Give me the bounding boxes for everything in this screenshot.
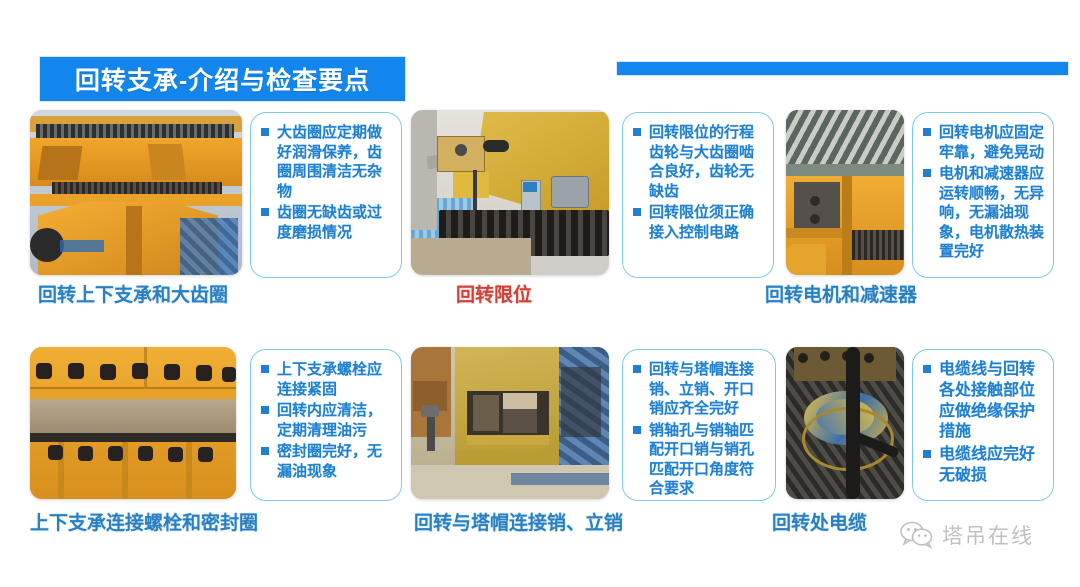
list-item: 回转限位的行程齿轮与大齿圈啮合良好，齿轮无缺齿 [632,123,765,201]
photo-slewing-motor-reducer [786,110,904,275]
watermark-text: 塔吊在线 [942,520,1034,550]
bullet-text: 大齿圈应定期做好润滑保养，齿圈周围清洁无杂物 [277,124,382,200]
photo-slewing-tower-cap-pins [411,347,609,499]
caption-slewing-cable: 回转处电缆 [772,508,867,535]
list-item: 回转与塔帽连接销、立销、开口销应齐全完好 [632,360,767,419]
bullet-square-icon [261,128,269,136]
bullet-text: 电机和减速器应运转顺畅，无异响，无漏油现象，电机散热装置完好 [939,165,1044,260]
bullet-text: 齿圈无缺齿或过度磨损情况 [277,204,382,241]
photo-support-bolts-seal-ring [30,347,236,499]
callout-slewing-motor-reducer: 回转电机应固定牢靠，避免晃动 电机和减速器应运转顺畅，无异响，无漏油现象，电机散… [912,112,1054,278]
photo-slewing-support-gear-ring [30,110,242,275]
watermark: 塔吊在线 [900,520,1034,550]
wechat-icon [900,521,934,549]
bullet-text: 回转内应清洁，定期清理油污 [277,402,382,439]
list-item: 上下支承螺栓应连接紧固 [260,360,393,399]
bullet-square-icon [923,450,931,458]
list-item: 回转内应清洁，定期清理油污 [260,401,393,440]
bullet-square-icon [923,365,931,373]
bullet-list: 回转电机应固定牢靠，避免晃动 电机和减速器应运转顺畅，无异响，无漏油现象，电机散… [922,123,1045,262]
page-title: 回转支承-介绍与检查要点 [75,61,370,97]
caption-support-bolts-seal-ring: 上下支承连接螺栓和密封圈 [30,508,258,535]
caption-slewing-support-gear-ring: 回转上下支承和大齿圈 [38,280,228,307]
bullet-list: 上下支承螺栓应连接紧固 回转内应清洁，定期清理油污 密封圈完好，无漏油现象 [260,360,393,481]
list-item: 回转电机应固定牢靠，避免晃动 [922,123,1045,162]
list-item: 回转限位须正确接入控制电路 [632,203,765,242]
bullet-square-icon [633,365,641,373]
bullet-list: 回转与塔帽连接销、立销、开口销应齐全完好 销轴孔与销轴匹配开口销与销孔匹配开口角… [632,360,767,499]
page-title-banner: 回转支承-介绍与检查要点 [40,57,405,101]
list-item: 密封圈完好，无漏油现象 [260,442,393,481]
list-item: 电机和减速器应运转顺畅，无异响，无漏油现象，电机散热装置完好 [922,164,1045,262]
list-item: 大齿圈应定期做好润滑保养，齿圈周围清洁无杂物 [260,123,393,201]
caption-slewing-tower-cap-pins: 回转与塔帽连接销、立销 [414,508,623,535]
callout-slewing-cable: 电缆线与回转各处接触部位应做绝缘保护措施 电缆线应完好无破损 [912,349,1054,501]
callout-slewing-support-gear-ring: 大齿圈应定期做好润滑保养，齿圈周围清洁无杂物 齿圈无缺齿或过度磨损情况 [250,112,402,278]
bullet-square-icon [923,128,931,136]
bullet-square-icon [261,365,269,373]
bullet-text: 上下支承螺栓应连接紧固 [277,361,382,398]
list-item: 电缆线应完好无破损 [922,445,1045,487]
callout-support-bolts-seal-ring: 上下支承螺栓应连接紧固 回转内应清洁，定期清理油污 密封圈完好，无漏油现象 [250,349,402,501]
bullet-list: 回转限位的行程齿轮与大齿圈啮合良好，齿轮无缺齿 回转限位须正确接入控制电路 [632,123,765,242]
list-item: 电缆线与回转各处接触部位应做绝缘保护措施 [922,360,1045,443]
list-item: 销轴孔与销轴匹配开口销与销孔匹配开口角度符合要求 [632,421,767,499]
bullet-square-icon [261,406,269,414]
photo-slewing-cable [786,347,904,499]
bullet-text: 销轴孔与销轴匹配开口销与销孔匹配开口角度符合要求 [649,422,754,498]
caption-slewing-motor-reducer: 回转电机和减速器 [765,280,917,307]
bullet-square-icon [633,426,641,434]
caption-slewing-limit: 回转限位 [456,280,532,307]
slide-canvas: 回转支承-介绍与检查要点 回转上下支承和大齿圈 大齿圈应定期做好润滑保养，齿圈周… [0,0,1080,587]
bullet-text: 电缆线应完好无破损 [939,446,1035,484]
bullet-text: 回转电机应固定牢靠，避免晃动 [939,124,1044,161]
photo-slewing-limit [411,110,609,275]
bullet-text: 回转限位须正确接入控制电路 [649,204,754,241]
callout-slewing-tower-cap-pins: 回转与塔帽连接销、立销、开口销应齐全完好 销轴孔与销轴匹配开口销与销孔匹配开口角… [622,349,776,501]
bullet-text: 回转与塔帽连接销、立销、开口销应齐全完好 [649,361,754,417]
bullet-text: 回转限位的行程齿轮与大齿圈啮合良好，齿轮无缺齿 [649,124,754,200]
list-item: 齿圈无缺齿或过度磨损情况 [260,203,393,242]
callout-slewing-limit: 回转限位的行程齿轮与大齿圈啮合良好，齿轮无缺齿 回转限位须正确接入控制电路 [622,112,774,278]
bullet-text: 密封圈完好，无漏油现象 [277,443,382,480]
header-accent-bar [617,62,1068,75]
bullet-list: 大齿圈应定期做好润滑保养，齿圈周围清洁无杂物 齿圈无缺齿或过度磨损情况 [260,123,393,242]
bullet-square-icon [633,208,641,216]
bullet-text: 电缆线与回转各处接触部位应做绝缘保护措施 [939,361,1035,440]
bullet-list: 电缆线与回转各处接触部位应做绝缘保护措施 电缆线应完好无破损 [922,360,1045,487]
bullet-square-icon [923,169,931,177]
bullet-square-icon [633,128,641,136]
bullet-square-icon [261,208,269,216]
bullet-square-icon [261,447,269,455]
